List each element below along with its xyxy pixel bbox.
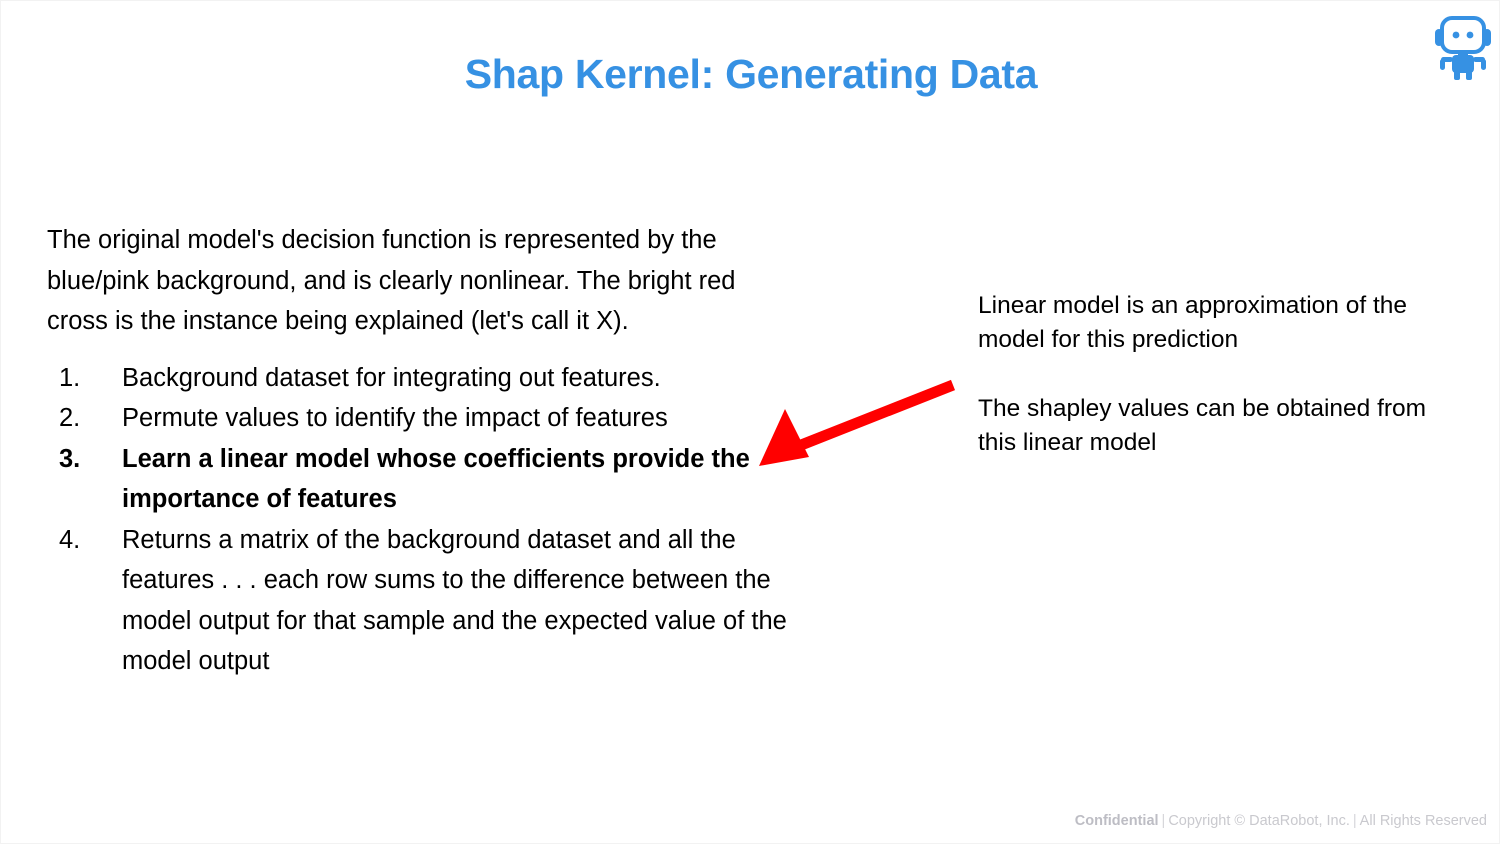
list-item-label: Returns a matrix of the background datas… — [122, 526, 787, 676]
list-item: 3. Learn a linear model whose coefficien… — [47, 439, 792, 520]
list-item-number: 3. — [59, 439, 99, 480]
footer-confidential-label: Confidential — [1075, 813, 1159, 829]
left-content-column: The original model's decision function i… — [47, 220, 807, 682]
footer-copyright: Copyright © DataRobot, Inc. — [1168, 813, 1350, 829]
numbered-steps-list: 1. Background dataset for integrating ou… — [47, 358, 807, 682]
list-item: 2. Permute values to identify the impact… — [47, 398, 792, 439]
footer: Confidential|Copyright © DataRobot, Inc.… — [1, 813, 1487, 829]
footer-separator: | — [1350, 813, 1360, 829]
list-item-label: Permute values to identify the impact of… — [122, 404, 668, 432]
slide-title: Shap Kernel: Generating Data — [1, 51, 1500, 98]
right-note-linear-model: Linear model is an approximation of the … — [978, 289, 1438, 357]
right-note-shapley-values: The shapley values can be obtained from … — [978, 392, 1438, 460]
list-item-label: Background dataset for integrating out f… — [122, 364, 661, 392]
list-item: 4. Returns a matrix of the background da… — [47, 520, 792, 682]
list-item-number: 4. — [59, 520, 99, 561]
list-item: 1. Background dataset for integrating ou… — [47, 358, 792, 399]
list-item-number: 1. — [59, 358, 99, 399]
right-annotation-column: Linear model is an approximation of the … — [978, 289, 1438, 460]
list-item-number: 2. — [59, 398, 99, 439]
list-item-label: Learn a linear model whose coefficients … — [122, 445, 750, 514]
slide-canvas: Shap Kernel: Generating Data The origina… — [0, 0, 1500, 844]
intro-paragraph: The original model's decision function i… — [47, 220, 792, 342]
footer-separator: | — [1159, 813, 1169, 829]
footer-rights: All Rights Reserved — [1360, 813, 1487, 829]
